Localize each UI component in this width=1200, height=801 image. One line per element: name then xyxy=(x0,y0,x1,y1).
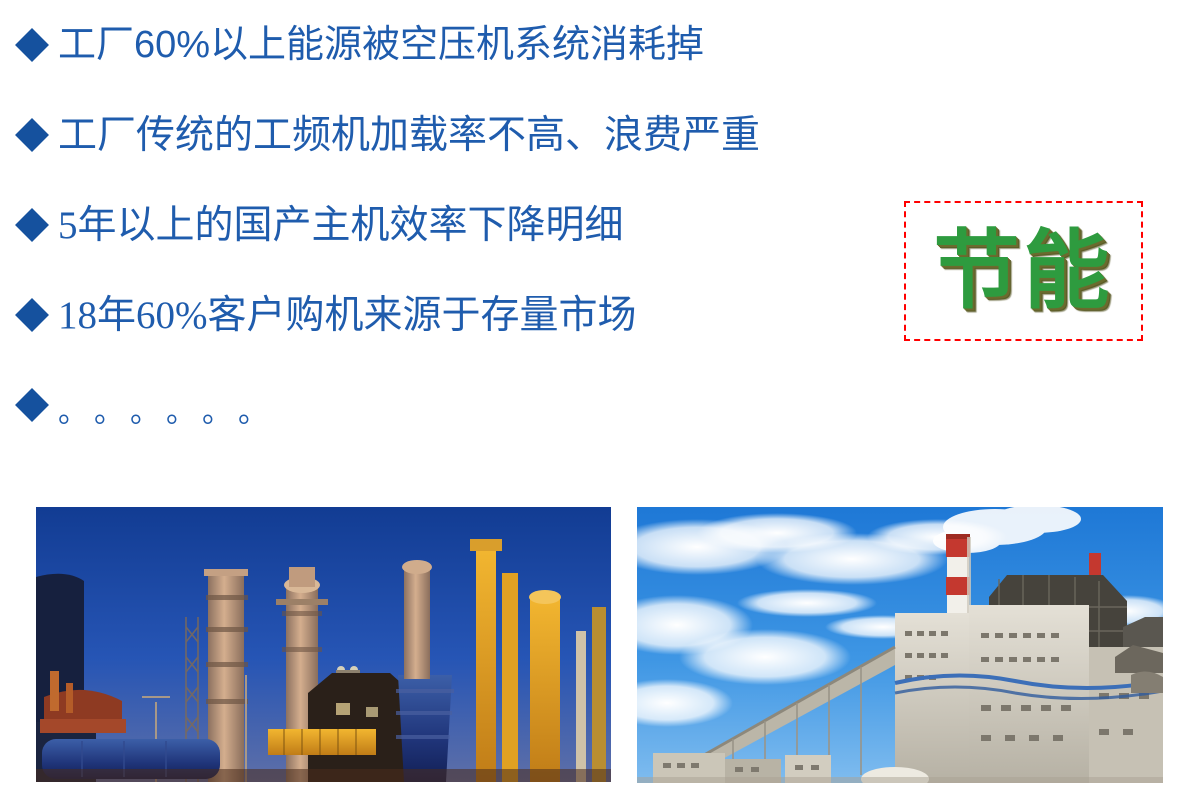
refinery-photo xyxy=(36,507,611,782)
diamond-bullet-icon xyxy=(15,298,49,332)
refinery-photo-graphic xyxy=(36,507,611,782)
bullet-item-5: 。。。。。。 xyxy=(0,360,880,450)
bullet-item-3-label: 5年以上的国产主机效率下降明细 xyxy=(58,206,624,245)
bullet-item-1: 工厂60%以上能源被空压机系统消耗掉 xyxy=(0,0,880,90)
diamond-bullet-icon xyxy=(15,388,49,422)
bullet-item-5-label: 。。。。。。 xyxy=(58,398,289,428)
power-plant-photo-graphic xyxy=(637,507,1163,783)
bullet-item-4-label: 18年60%客户购机来源于存量市场 xyxy=(58,296,637,335)
diamond-bullet-icon xyxy=(15,118,49,152)
diamond-bullet-icon xyxy=(15,28,49,62)
bullet-item-3: 5年以上的国产主机效率下降明细 xyxy=(0,180,880,270)
bullet-item-2: 工厂传统的工频机加载率不高、浪费严重 xyxy=(0,90,880,180)
power-plant-photo xyxy=(637,507,1163,783)
bullet-item-2-label: 工厂传统的工频机加载率不高、浪费严重 xyxy=(58,116,760,155)
bullet-item-1-label: 工厂60%以上能源被空压机系统消耗掉 xyxy=(58,26,704,64)
energy-saving-callout: 节能 xyxy=(904,201,1143,341)
bullet-item-4: 18年60%客户购机来源于存量市场 xyxy=(0,270,880,360)
diamond-bullet-icon xyxy=(15,208,49,242)
bullet-list: 工厂60%以上能源被空压机系统消耗掉 工厂传统的工频机加载率不高、浪费严重 5年… xyxy=(0,0,880,450)
energy-saving-label: 节能 xyxy=(934,228,1114,314)
